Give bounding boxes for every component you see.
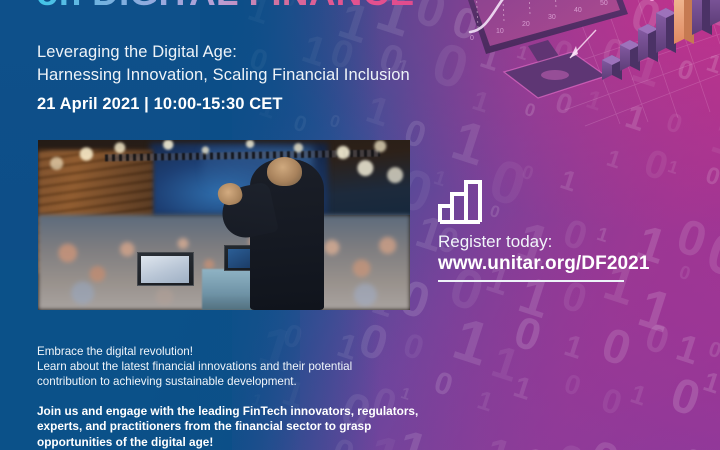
call-to-action: Join us and engage with the leading FinT… <box>37 404 418 450</box>
cta-line-1: Join us and engage with the leading FinT… <box>37 404 418 419</box>
svg-text:10: 10 <box>496 28 504 35</box>
body-copy: Embrace the digital revolution! Learn ab… <box>37 344 352 390</box>
isometric-chart-artwork: 010 2030 4050 <box>420 0 720 144</box>
page-title: on DIGITAL FINANCE <box>36 0 414 14</box>
bar-chart-icon <box>438 178 494 229</box>
svg-text:50: 50 <box>600 0 608 7</box>
subtitle-line-2: Harnessing Innovation, Scaling Financial… <box>37 64 410 87</box>
body-line-2: Learn about the latest financial innovat… <box>37 359 352 374</box>
svg-text:20: 20 <box>522 21 530 28</box>
body-line-3: contribution to achieving sustainable de… <box>37 374 352 389</box>
event-poster: 1011001010011010010110010110010110011011… <box>0 0 720 450</box>
conference-photo <box>38 140 410 310</box>
cta-line-2: experts, and practitioners from the fina… <box>37 419 418 434</box>
svg-text:40: 40 <box>574 7 582 14</box>
body-line-1: Embrace the digital revolution! <box>37 344 352 359</box>
cta-line-3: opportunities of the digital age! <box>37 435 418 450</box>
svg-text:30: 30 <box>548 14 556 21</box>
svg-text:0: 0 <box>470 35 474 42</box>
register-url[interactable]: www.unitar.org/DF2021 <box>438 253 650 275</box>
subtitle-line-1: Leveraging the Digital Age: <box>37 41 410 64</box>
event-datetime: 21 April 2021 | 10:00-15:30 CET <box>37 95 283 114</box>
photo-laptop-left <box>137 252 195 286</box>
register-label: Register today: <box>438 232 552 252</box>
photo-speaker-head <box>267 157 302 186</box>
register-underline <box>438 280 624 282</box>
subtitle: Leveraging the Digital Age: Harnessing I… <box>37 41 410 87</box>
